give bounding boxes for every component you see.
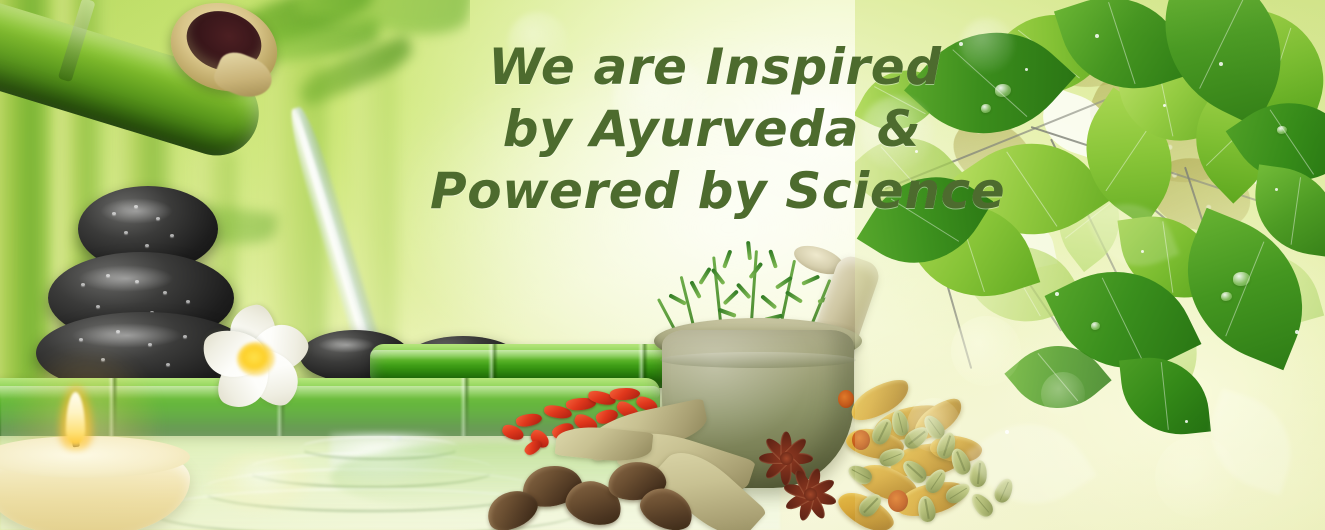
flower-reflection (206, 452, 316, 514)
sparkle (1275, 188, 1278, 191)
bokeh-circle (1041, 372, 1085, 416)
headline-line-3: Powered by Science (430, 160, 990, 222)
sparkle (1163, 104, 1166, 107)
flower-center (237, 342, 275, 376)
headline: We are Inspired by Ayurveda & Powered by… (430, 36, 990, 222)
plumeria-flower (196, 300, 316, 418)
sparkle (1185, 420, 1188, 423)
turmeric-cut-face (838, 390, 854, 408)
bokeh-circle (951, 316, 1021, 386)
sparkle (1295, 330, 1299, 334)
bokeh-circle (907, 398, 961, 452)
ayurveda-hero-banner: We are Inspired by Ayurveda & Powered by… (0, 0, 1325, 530)
star-anise (782, 466, 838, 522)
sparkle (1055, 292, 1059, 296)
headline-line-2: by Ayurveda & (430, 98, 990, 160)
headline-line-1: We are Inspired (430, 36, 990, 98)
sparkle (1219, 62, 1223, 66)
sparkle (1095, 34, 1099, 38)
mortar-decorative-ring (660, 352, 856, 368)
sparkle (1025, 68, 1028, 71)
bamboo-spout (0, 0, 310, 168)
